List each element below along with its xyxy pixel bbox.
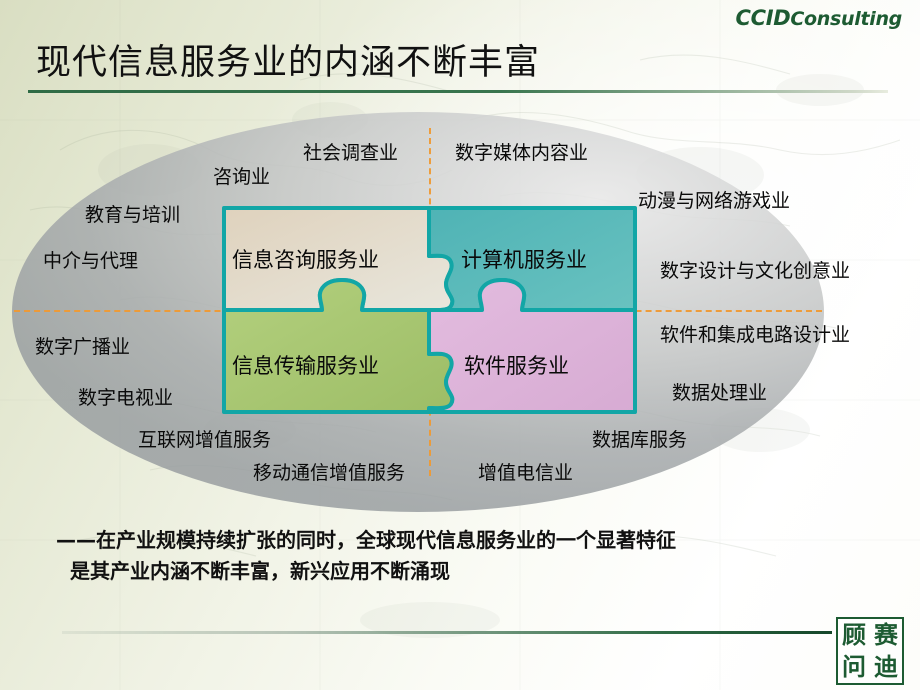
brand-primary-text: CCID [736,6,791,30]
logo-char-wen: 问 [838,651,870,683]
satellite-label-data-processing: 数据处理业 [672,378,767,405]
satellite-label-mobile-comm-value-added: 移动通信增值服务 [253,458,405,485]
slide-caption: ——在产业规模持续扩张的同时，全球现代信息服务业的一个显著特征 是其产业内涵不断… [56,525,886,587]
puzzle-diagram [222,206,637,414]
slide-canvas: CCIDConsulting 现代信息服务业的内涵不断丰富 [0,0,920,690]
ccid-consulting-logo: CCIDConsulting [736,6,902,30]
logo-char-gu: 顾 [838,619,870,651]
title-divider [28,90,888,93]
satellite-label-digital-broadcasting: 数字广播业 [35,332,130,359]
satellite-label-animation-online-gaming: 动漫与网络游戏业 [638,186,790,213]
footer-divider [62,631,832,634]
ccid-chinese-logo: 顾 赛 问 迪 [836,617,904,685]
satellite-label-value-added-telecom: 增值电信业 [478,458,573,485]
satellite-label-digital-television: 数字电视业 [78,383,173,410]
satellite-label-education-training: 教育与培训 [85,200,180,227]
caption-line-2: 是其产业内涵不断丰富，新兴应用不断涌现 [70,556,886,587]
satellite-label-intermediary-agency: 中介与代理 [43,246,138,273]
puzzle-label-computer-services: 计算机服务业 [461,244,587,274]
puzzle-label-information-consulting: 信息咨询服务业 [232,244,379,274]
satellite-label-digital-design-culture: 数字设计与文化创意业 [660,256,850,283]
brand-secondary-text: Consulting [790,8,902,30]
logo-char-di: 迪 [870,651,902,683]
slide-header: CCIDConsulting 现代信息服务业的内涵不断丰富 [0,0,920,100]
caption-line-1: ——在产业规模持续扩张的同时，全球现代信息服务业的一个显著特征 [56,528,676,552]
satellite-label-internet-value-added: 互联网增值服务 [138,425,271,452]
puzzle-label-information-transmission: 信息传输服务业 [232,350,379,380]
satellite-label-consulting-industry: 咨询业 [213,162,270,189]
logo-char-sai: 赛 [870,619,902,651]
satellite-label-digital-media-content: 数字媒体内容业 [455,138,588,165]
page-title: 现代信息服务业的内涵不断丰富 [36,34,540,85]
satellite-label-database-services: 数据库服务 [592,425,687,452]
satellite-label-software-ic-design: 软件和集成电路设计业 [660,320,850,347]
satellite-label-social-survey-industry: 社会调查业 [303,138,398,165]
puzzle-label-software-services: 软件服务业 [464,350,569,380]
